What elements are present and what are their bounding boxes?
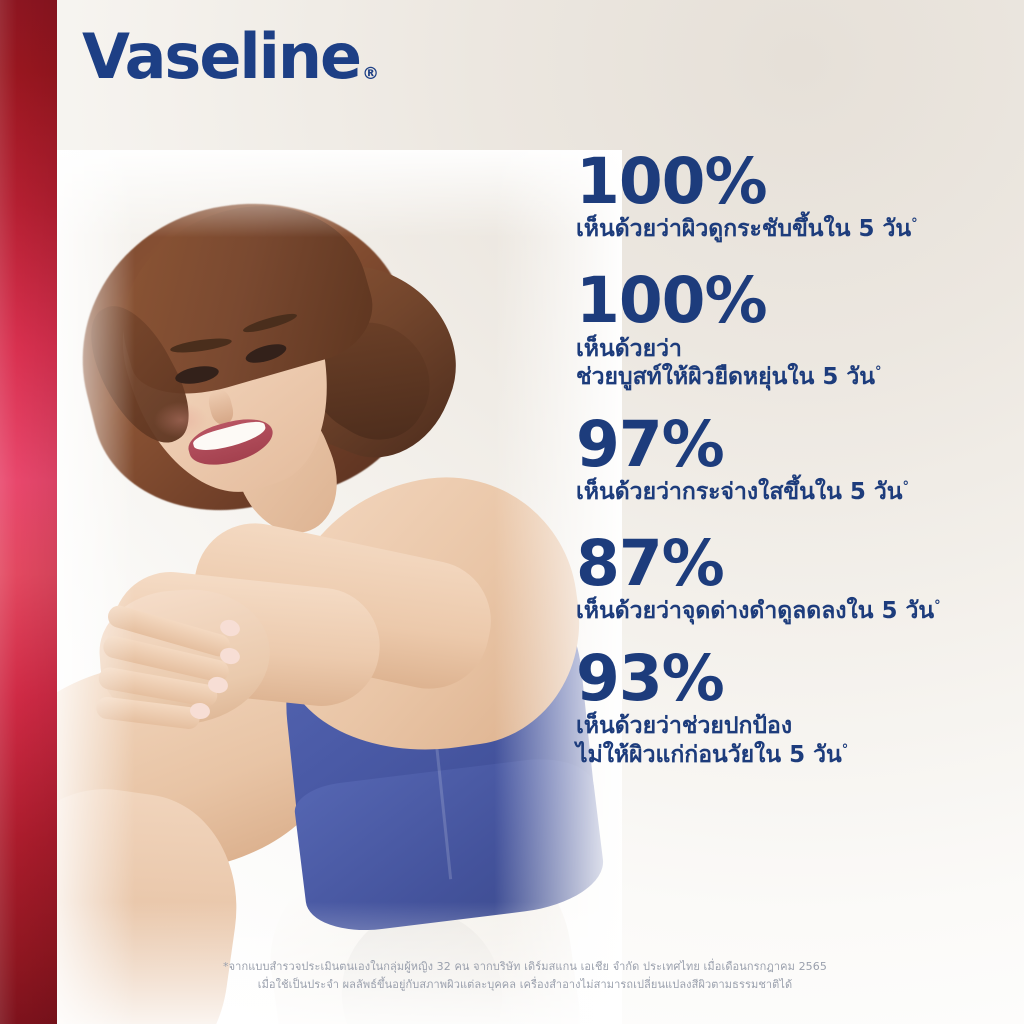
- footnote-line-1: *จากแบบสำรวจประเมินตนเองในกลุ่มผู้หญิง 3…: [80, 958, 970, 976]
- claim-line: ไม่ให้ผิวแก่ก่อนวัยใน 5 วัน°: [576, 741, 1016, 769]
- claim-text-4: เห็นด้วยว่าจุดด่างดำดูลดลงใน 5 วัน°: [576, 597, 1016, 625]
- claim-item-1: 100% เห็นด้วยว่าผิวดูกระชับขึ้นใน 5 วัน°: [576, 150, 1016, 243]
- claim-item-3: 97% เห็นด้วยว่ากระจ่างใสขึ้นใน 5 วัน°: [576, 413, 1016, 506]
- logo-wordmark: Vaseline: [82, 26, 360, 88]
- stripe-sheen: [0, 0, 57, 1024]
- claim-line-text: เห็นด้วยว่า: [576, 336, 682, 362]
- claim-text-5: เห็นด้วยว่าช่วยปกป้อง ไม่ให้ผิวแก่ก่อนวั…: [576, 712, 1016, 768]
- claim-text-3: เห็นด้วยว่ากระจ่างใสขึ้นใน 5 วัน°: [576, 478, 1016, 506]
- claim-text-2: เห็นด้วยว่า ช่วยบูสท์ให้ผิวยืดหยุ่นใน 5 …: [576, 335, 1016, 391]
- left-red-stripe: [0, 0, 57, 1024]
- footnote-mark-icon: °: [842, 742, 849, 757]
- footnote-mark-icon: °: [911, 217, 918, 232]
- footnote-mark-icon: °: [934, 599, 941, 614]
- claim-line: เห็นด้วยว่าจุดด่างดำดูลดลงใน 5 วัน°: [576, 597, 1016, 625]
- registered-trademark-icon: ®: [362, 64, 379, 84]
- claim-line-text: เห็นด้วยว่ากระจ่างใสขึ้นใน 5 วัน: [576, 479, 902, 505]
- legal-footnote: *จากแบบสำรวจประเมินตนเองในกลุ่มผู้หญิง 3…: [80, 958, 970, 994]
- claim-line-text: ไม่ให้ผิวแก่ก่อนวัยใน 5 วัน: [576, 742, 842, 768]
- claim-line: เห็นด้วยว่า: [576, 335, 1016, 363]
- claim-line-text: เห็นด้วยว่าช่วยปกป้อง: [576, 713, 792, 739]
- claim-text-1: เห็นด้วยว่าผิวดูกระชับขึ้นใน 5 วัน°: [576, 215, 1016, 243]
- claim-line: ช่วยบูสท์ให้ผิวยืดหยุ่นใน 5 วัน°: [576, 363, 1016, 391]
- claim-item-4: 87% เห็นด้วยว่าจุดด่างดำดูลดลงใน 5 วัน°: [576, 532, 1016, 625]
- claim-percent-1: 100%: [576, 150, 1016, 214]
- claim-percent-4: 87%: [576, 532, 1016, 596]
- claim-percent-2: 100%: [576, 269, 1016, 333]
- claim-line-text: ช่วยบูสท์ให้ผิวยืดหยุ่นใน 5 วัน: [576, 364, 875, 390]
- promo-banner: Vaseline ®: [0, 0, 1024, 1024]
- claim-line: เห็นด้วยว่ากระจ่างใสขึ้นใน 5 วัน°: [576, 478, 1016, 506]
- claim-item-5: 93% เห็นด้วยว่าช่วยปกป้อง ไม่ให้ผิวแก่ก่…: [576, 647, 1016, 768]
- footnote-line-2: เมื่อใช้เป็นประจำ ผลลัพธ์ขึ้นอยู่กับสภาพ…: [80, 976, 970, 994]
- claim-line: เห็นด้วยว่าช่วยปกป้อง: [576, 712, 1016, 740]
- footnote-mark-icon: °: [902, 479, 909, 494]
- claim-line-text: เห็นด้วยว่าจุดด่างดำดูลดลงใน 5 วัน: [576, 598, 934, 624]
- claim-line: เห็นด้วยว่าผิวดูกระชับขึ้นใน 5 วัน°: [576, 215, 1016, 243]
- claim-percent-3: 97%: [576, 413, 1016, 477]
- claims-list: 100% เห็นด้วยว่าผิวดูกระชับขึ้นใน 5 วัน°…: [576, 150, 1016, 769]
- claim-percent-5: 93%: [576, 647, 1016, 711]
- claim-line-text: เห็นด้วยว่าผิวดูกระชับขึ้นใน 5 วัน: [576, 216, 911, 242]
- footnote-mark-icon: °: [875, 364, 882, 379]
- vaseline-logo: Vaseline ®: [82, 26, 379, 88]
- model-photo: [42, 150, 622, 1024]
- claim-item-2: 100% เห็นด้วยว่า ช่วยบูสท์ให้ผิวยืดหยุ่น…: [576, 269, 1016, 390]
